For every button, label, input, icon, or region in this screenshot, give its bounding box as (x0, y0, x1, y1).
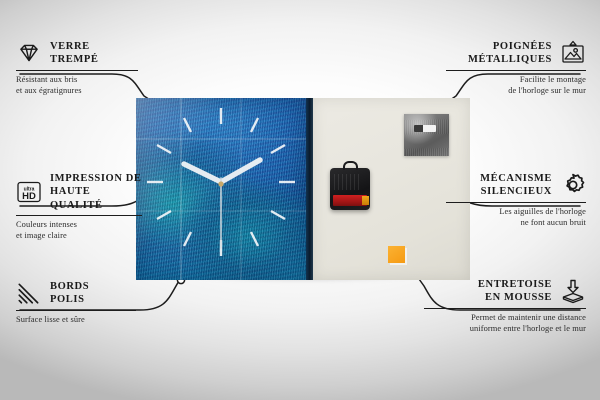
mechanism-label (334, 174, 360, 190)
callout-impression-haute-qualite[interactable]: ultra HD IMPRESSION DE HAUTE QUALITÉ Cou… (16, 172, 142, 242)
battery (333, 195, 367, 206)
callout-header: ENTRETOISE EN MOUSSE (424, 278, 586, 305)
foam-spacer (388, 246, 405, 263)
callout-rule (446, 70, 586, 71)
callout-mecanisme-silencieux[interactable]: MÉCANISME SILENCIEUX Les aiguilles de l'… (446, 172, 586, 228)
press-down-pad-icon (560, 278, 586, 304)
callout-description: Surface lisse et sûre (16, 314, 136, 325)
product-image (136, 98, 470, 280)
clock-center-cap (218, 181, 223, 186)
callout-rule (424, 308, 586, 309)
clock-minute-hand (221, 160, 260, 182)
hanger-slot (414, 125, 436, 132)
diamond-icon (16, 40, 42, 66)
mechanism-hook (343, 161, 358, 170)
callout-description: Permet de maintenir une distance uniform… (424, 312, 586, 334)
callout-rule (446, 202, 586, 203)
callout-entretoise-en-mousse[interactable]: ENTRETOISE EN MOUSSE Permet de maintenir… (424, 278, 586, 334)
callout-title: VERRE TREMPÉ (50, 40, 99, 67)
clock-panel-edge (306, 98, 313, 280)
callout-verre-trempe[interactable]: VERRE TREMPÉ Résistant aux bris et aux é… (16, 40, 138, 96)
callout-header: BORDS POLIS (16, 280, 136, 307)
callout-description: Les aiguilles de l'horloge ne font aucun… (446, 206, 586, 228)
callout-title: IMPRESSION DE HAUTE QUALITÉ (50, 172, 142, 212)
callout-poignees-metalliques[interactable]: POIGNÉES MÉTALLIQUES Facilite le montage… (446, 40, 586, 96)
callout-title: POIGNÉES MÉTALLIQUES (468, 40, 552, 67)
callout-header: VERRE TREMPÉ (16, 40, 138, 67)
clock-hour-hand (184, 164, 221, 182)
callout-description: Facilite le montage de l'horloge sur le … (446, 74, 586, 96)
metal-hanger-bracket (404, 114, 449, 156)
callout-header: POIGNÉES MÉTALLIQUES (446, 40, 586, 67)
callout-description: Couleurs intenses et image claire (16, 219, 142, 241)
callout-header: ultra HD IMPRESSION DE HAUTE QUALITÉ (16, 172, 142, 212)
ultra-hd-icon: ultra HD (16, 179, 42, 205)
clock-mechanism (330, 168, 370, 210)
callout-title: MÉCANISME SILENCIEUX (480, 172, 552, 199)
callout-bords-polis[interactable]: BORDS POLIS Surface lisse et sûre (16, 280, 136, 325)
callout-description: Résistant aux bris et aux égratignures (16, 74, 138, 96)
clock-face (136, 98, 306, 280)
callout-header: MÉCANISME SILENCIEUX (446, 172, 586, 199)
callout-rule (16, 215, 142, 216)
callout-title: ENTRETOISE EN MOUSSE (478, 278, 552, 305)
infographic-canvas: VERRE TREMPÉ Résistant aux bris et aux é… (0, 0, 600, 400)
gear-icon (560, 172, 586, 198)
framed-picture-icon (560, 40, 586, 66)
callout-rule (16, 310, 136, 311)
callout-title: BORDS POLIS (50, 280, 89, 307)
diagonal-lines-icon (16, 280, 42, 306)
clock-front-panel (136, 98, 306, 280)
svg-text:HD: HD (22, 191, 36, 202)
callout-rule (16, 70, 138, 71)
